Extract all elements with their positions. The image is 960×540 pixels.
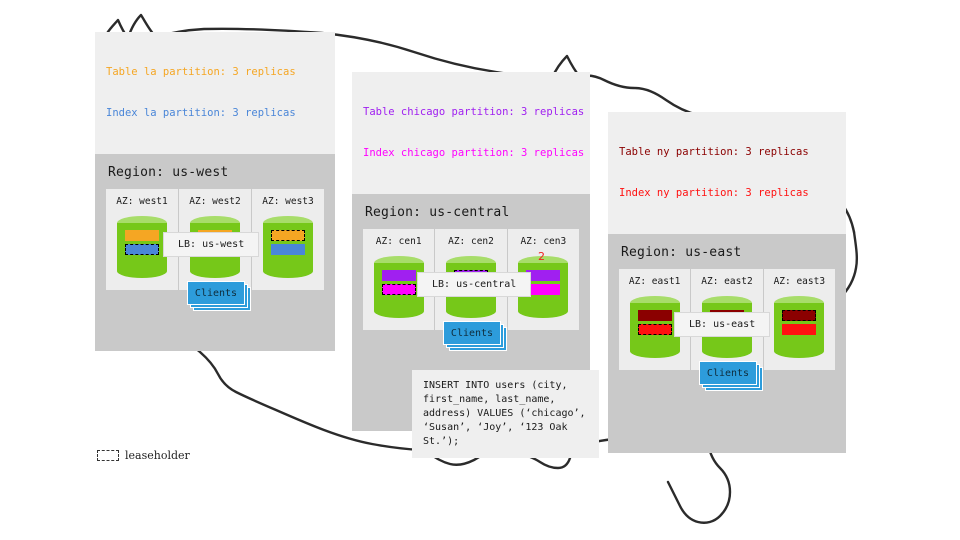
az-cell-east3[interactable]: AZ: east3 (764, 269, 835, 370)
node-cylinder-west3[interactable] (263, 216, 313, 278)
node-cylinder-east1[interactable] (630, 296, 680, 358)
index-replica-band (526, 284, 560, 295)
replica-bands (117, 230, 167, 258)
region-body-us-east: Region: us-east AZ: east1 AZ: east2 (608, 234, 846, 453)
index-partition-line: Index la partition: 3 replicas (106, 107, 325, 121)
az-label: AZ: west1 (106, 196, 178, 207)
region-card-us-east: Table ny partition: 3 replicas Index ny … (608, 112, 846, 453)
table-partition-line: Table la partition: 3 replicas (106, 66, 325, 80)
legend: leaseholder (97, 449, 190, 462)
leaseholder-swatch-icon (97, 450, 119, 461)
table-replica-band (526, 270, 560, 281)
step-2-label: 2 (538, 250, 545, 263)
az-cell-west3[interactable]: AZ: west3 (252, 189, 324, 290)
table-partition-line: Table chicago partition: 3 replicas (363, 106, 580, 120)
az-label: AZ: west2 (179, 196, 251, 207)
region-header-us-west: Table la partition: 3 replicas Index la … (95, 32, 335, 154)
az-label: AZ: cen3 (508, 236, 579, 247)
clients-us-east[interactable]: Clients (699, 361, 757, 385)
table-replica-band-leaseholder (271, 230, 305, 241)
replica-bands (630, 310, 680, 338)
clients-button[interactable]: Clients (443, 321, 501, 345)
table-partition-line: Table ny partition: 3 replicas (619, 146, 836, 160)
region-header-us-central: Table chicago partition: 3 replicas Inde… (352, 72, 590, 194)
replica-bands (263, 230, 313, 258)
index-partition-line: Index chicago partition: 3 replicas (363, 147, 580, 161)
sql-statement-box: INSERT INTO users (city, first_name, las… (412, 370, 599, 458)
index-replica-band-leaseholder (638, 324, 672, 335)
az-label: AZ: cen1 (363, 236, 434, 247)
table-replica-band (638, 310, 672, 321)
region-header-us-east: Table ny partition: 3 replicas Index ny … (608, 112, 846, 234)
az-label: AZ: east3 (764, 276, 835, 287)
node-cylinder-west1[interactable] (117, 216, 167, 278)
index-replica-band (782, 324, 816, 335)
region-title: Region: us-central (352, 194, 590, 229)
replica-bands (774, 310, 824, 338)
clients-button[interactable]: Clients (699, 361, 757, 385)
index-replica-band (271, 244, 305, 255)
legend-label: leaseholder (125, 449, 190, 462)
region-title: Region: us-east (608, 234, 846, 269)
az-label: AZ: west3 (252, 196, 324, 207)
clients-us-central[interactable]: Clients (443, 321, 501, 345)
table-replica-band (382, 270, 416, 281)
node-cylinder-east3[interactable] (774, 296, 824, 358)
index-partition-line: Index ny partition: 3 replicas (619, 187, 836, 201)
index-replica-band-leaseholder (125, 244, 159, 255)
region-title: Region: us-west (95, 154, 335, 189)
load-balancer-us-west[interactable]: LB: us-west (163, 232, 259, 257)
index-replica-band-leaseholder (382, 284, 416, 295)
load-balancer-us-east[interactable]: LB: us-east (674, 312, 770, 337)
table-replica-band-leaseholder (782, 310, 816, 321)
clients-us-west[interactable]: Clients (187, 281, 245, 305)
load-balancer-us-central[interactable]: LB: us-central (417, 272, 531, 297)
az-label: AZ: east2 (691, 276, 762, 287)
az-label: AZ: east1 (619, 276, 690, 287)
table-replica-band (125, 230, 159, 241)
az-label: AZ: cen2 (435, 236, 506, 247)
clients-button[interactable]: Clients (187, 281, 245, 305)
